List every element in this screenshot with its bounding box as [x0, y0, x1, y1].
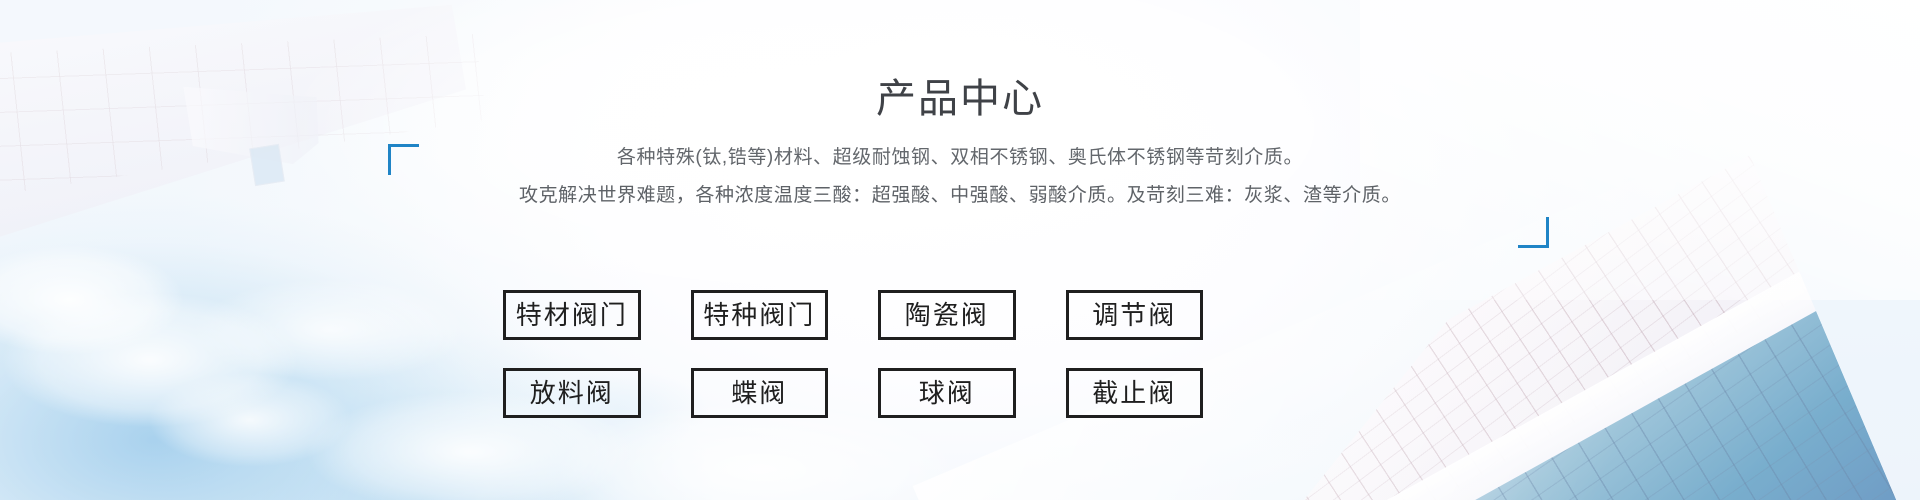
product-category-row-1: 特材阀门 特种阀门 陶瓷阀 调节阀 [503, 290, 1203, 340]
description-line-1: 各种特殊(钛,锆等)材料、超级耐蚀钢、双相不锈钢、奥氏体不锈钢等苛刻介质。 [0, 143, 1920, 172]
category-button-globe-valve[interactable]: 截止阀 [1066, 368, 1204, 418]
description-line-2: 攻克解决世界难题，各种浓度温度三酸：超强酸、中强酸、弱酸介质。及苛刻三难：灰浆、… [0, 181, 1920, 210]
category-button-discharge-valve[interactable]: 放料阀 [503, 368, 641, 418]
corner-bracket-top-left-icon [388, 144, 419, 175]
product-category-row-2: 放料阀 蝶阀 球阀 截止阀 [503, 368, 1203, 418]
category-button-specialty-valve[interactable]: 特种阀门 [691, 290, 829, 340]
product-category-grid: 特材阀门 特种阀门 陶瓷阀 调节阀 放料阀 蝶阀 球阀 截止阀 [503, 290, 1203, 418]
product-center-banner: 产品中心 各种特殊(钛,锆等)材料、超级耐蚀钢、双相不锈钢、奥氏体不锈钢等苛刻介… [0, 0, 1920, 500]
description-block: 各种特殊(钛,锆等)材料、超级耐蚀钢、双相不锈钢、奥氏体不锈钢等苛刻介质。 攻克… [0, 143, 1920, 220]
category-button-control-valve[interactable]: 调节阀 [1066, 290, 1204, 340]
corner-bracket-bottom-right-icon [1518, 217, 1549, 248]
category-button-ceramic-valve[interactable]: 陶瓷阀 [878, 290, 1016, 340]
banner-content: 产品中心 各种特殊(钛,锆等)材料、超级耐蚀钢、双相不锈钢、奥氏体不锈钢等苛刻介… [0, 0, 1920, 500]
category-button-butterfly-valve[interactable]: 蝶阀 [691, 368, 829, 418]
page-title: 产品中心 [0, 75, 1920, 123]
category-button-special-material-valve[interactable]: 特材阀门 [503, 290, 641, 340]
category-button-ball-valve[interactable]: 球阀 [878, 368, 1016, 418]
